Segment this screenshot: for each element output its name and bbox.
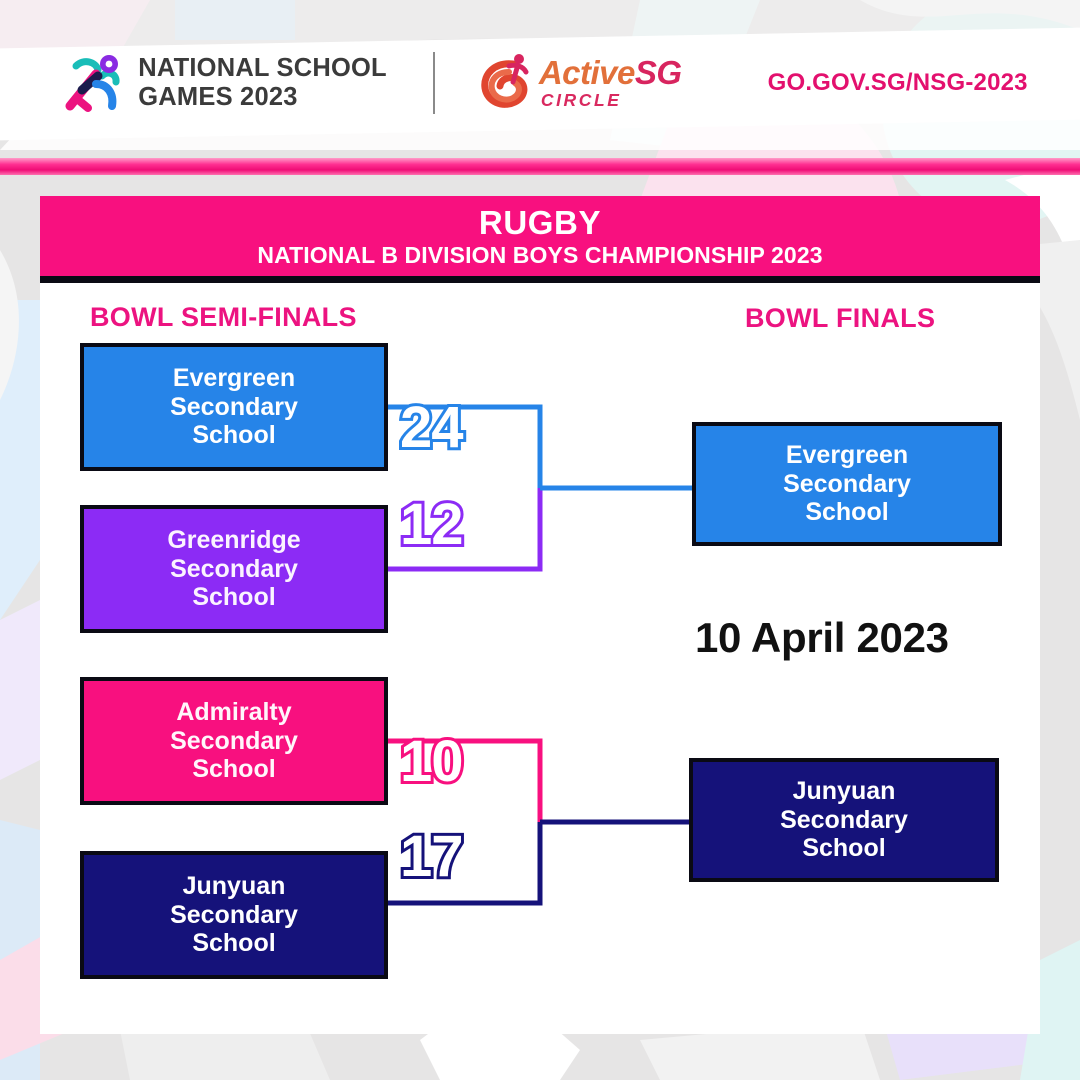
- team-box-evergreen-final[interactable]: Evergreen Secondary School: [692, 422, 1002, 546]
- activesg-wordmark: ActiveSG: [539, 56, 682, 89]
- activesg-subtitle: CIRCLE: [541, 92, 622, 110]
- nsg-logo: NATIONAL SCHOOL GAMES 2023: [62, 54, 387, 112]
- score-greenridge: 12: [400, 496, 463, 554]
- header-divider: [433, 52, 435, 114]
- page-header: NATIONAL SCHOOL GAMES 2023 ActiveSG CIRC…: [0, 0, 1080, 165]
- match-date: 10 April 2023: [695, 614, 949, 662]
- score-junyuan: 17: [400, 828, 463, 886]
- nsg-logo-text: NATIONAL SCHOOL GAMES 2023: [138, 54, 387, 112]
- bracket-panel: RUGBY NATIONAL B DIVISION BOYS CHAMPIONS…: [40, 196, 1040, 1034]
- nsg-url[interactable]: GO.GOV.SG/NSG-2023: [768, 69, 1028, 97]
- activesg-logo: ActiveSG CIRCLE: [479, 52, 682, 114]
- header-pink-rule: [0, 158, 1080, 175]
- team-box-junyuan-semi[interactable]: Junyuan Secondary School: [80, 851, 388, 979]
- score-evergreen: 24: [400, 399, 463, 457]
- team-box-junyuan-final[interactable]: Junyuan Secondary School: [689, 758, 999, 882]
- team-box-greenridge-semi[interactable]: Greenridge Secondary School: [80, 505, 388, 633]
- activesg-word-sg: SG: [635, 54, 682, 91]
- team-box-admiralty-semi[interactable]: Admiralty Secondary School: [80, 677, 388, 805]
- team-box-evergreen-semi[interactable]: Evergreen Secondary School: [80, 343, 388, 471]
- score-admiralty: 10: [400, 733, 463, 791]
- running-figure-icon: [62, 54, 124, 112]
- activesg-swirl-icon: [479, 52, 539, 114]
- activesg-word-active: Active: [539, 54, 635, 91]
